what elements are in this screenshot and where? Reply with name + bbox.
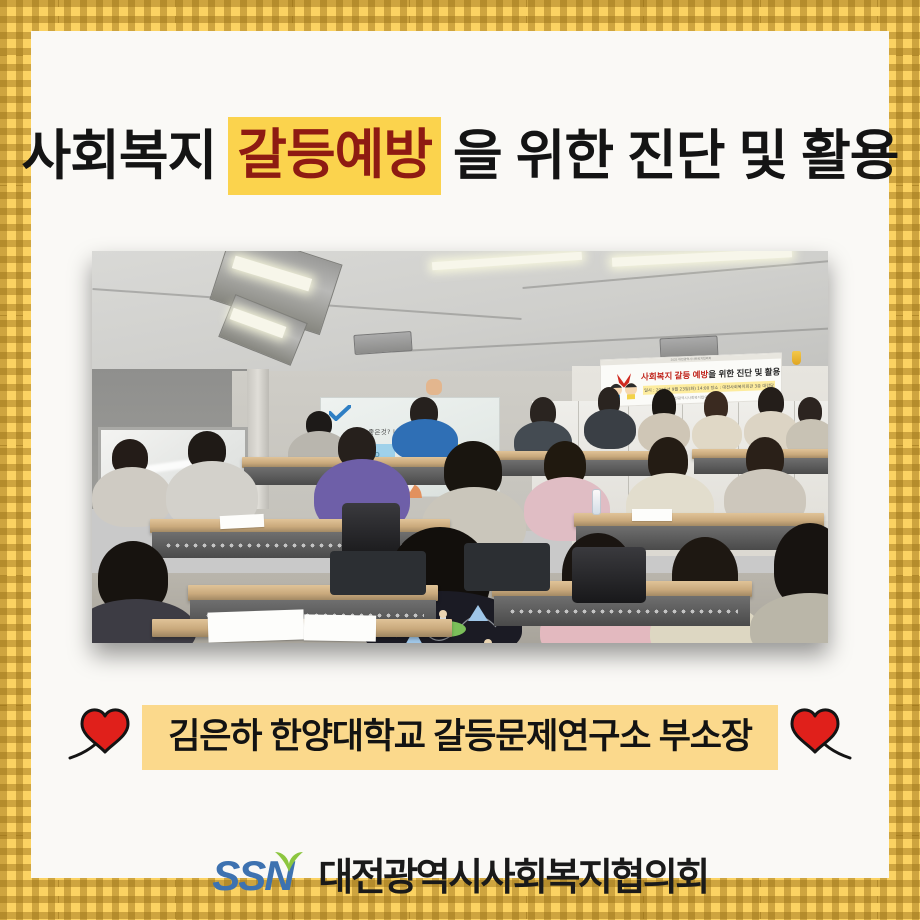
person-body: [92, 467, 172, 527]
paper-sheet: [304, 614, 376, 641]
handbag: [572, 547, 646, 603]
person-body: [692, 415, 742, 453]
content-card: 사회복지 갈등예방 을 위한 진단 및 활용: [31, 31, 889, 878]
leaf-icon: [274, 849, 304, 873]
person-body: [584, 409, 636, 449]
desk: [150, 519, 450, 533]
projector: [353, 331, 412, 355]
check-icon: [329, 405, 351, 421]
banner-title: 사회복지 갈등 예방을 위한 진단 및 활용: [641, 366, 780, 383]
chair-back: [464, 543, 550, 591]
paper-sheet: [208, 609, 305, 642]
wall-lamp: [792, 351, 801, 365]
speaker-caption: 김은하 한양대학교 갈등문제연구소 부소장: [31, 697, 889, 777]
speaker-head: [426, 379, 442, 395]
paper-sheet: [632, 509, 672, 521]
organization-name: 대전광역시사회복지협의회: [318, 859, 708, 897]
water-bottle: [592, 489, 601, 515]
desk-vent: [508, 607, 738, 618]
poster-page: 사회복지 갈등예방 을 위한 진단 및 활용: [0, 0, 920, 920]
title-part-after: 을 위한 진단 및 활용: [453, 129, 898, 183]
footer-logo: SSN 대전광역시사회복지협의회: [0, 846, 920, 910]
title-part-before: 사회복지: [22, 129, 217, 183]
wall-banner: 2025 대전광역시사회복지협의회 사회복지 갈등 예방을 위한 진단 및 활용…: [600, 353, 782, 408]
paper-sheet: [220, 514, 265, 529]
heart-balloon-icon: [778, 700, 852, 774]
heart-balloon-icon: [68, 700, 142, 774]
banner-title-red: 사회복지 갈등 예방: [641, 369, 708, 382]
banner-title-dark: 을 위한 진단 및 활용: [708, 367, 780, 380]
ssn-logo-mark: SSN: [212, 855, 308, 901]
page-title: 사회복지 갈등예방 을 위한 진단 및 활용: [31, 117, 889, 195]
desk: [574, 513, 824, 527]
caption-text: 김은하 한양대학교 갈등문제연구소 부소장: [142, 705, 778, 770]
seminar-photo: 갈등은 좋은것? 나쁜것? GOOD BAD 2025 대전광역시사회복지협의회: [92, 251, 828, 643]
chair-back: [330, 551, 426, 595]
title-highlight: 갈등예방: [228, 117, 441, 195]
